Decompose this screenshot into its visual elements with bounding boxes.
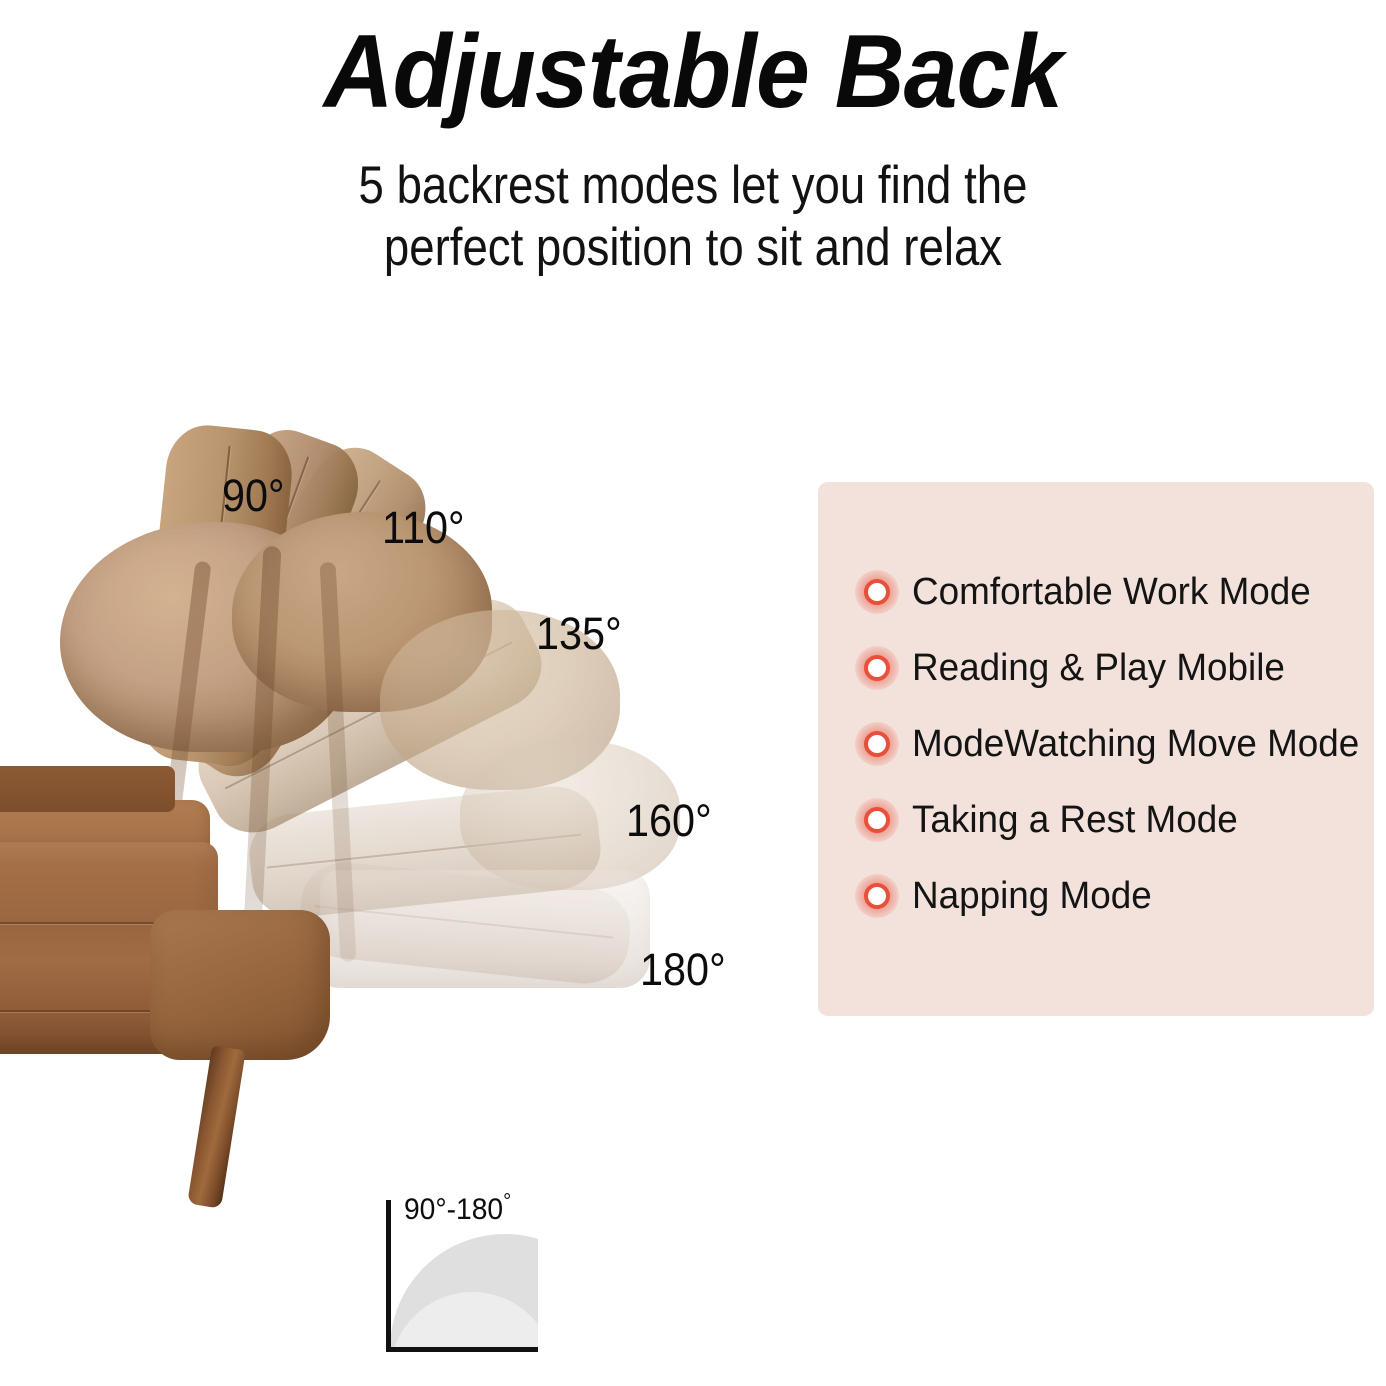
- feature-item-reading-play-mobile[interactable]: Reading & Play Mobile: [864, 630, 1374, 706]
- bullet-icon: [864, 579, 890, 605]
- subtitle-line-2: perfect position to sit and relax: [97, 217, 1289, 279]
- feature-label: ModeWatching Move Mode: [912, 723, 1359, 766]
- angle-range-degree: °: [503, 1188, 511, 1213]
- feature-item-watching-move-mode[interactable]: ModeWatching Move Mode: [864, 706, 1374, 782]
- backrest-base-wrap: [150, 910, 330, 1060]
- angle-label-180: 180°: [640, 944, 726, 996]
- bullet-icon: [864, 883, 890, 909]
- chair-seat-inner: [0, 766, 175, 812]
- feature-label: Reading & Play Mobile: [912, 647, 1285, 690]
- angle-label-90: 90°: [222, 470, 285, 522]
- angle-range-diagram: 90°-180°: [382, 1192, 552, 1372]
- page-subtitle: 5 backrest modes let you find the perfec…: [97, 155, 1289, 279]
- angle-diagram-mask-right: [538, 1192, 658, 1386]
- feature-item-taking-a-rest-mode[interactable]: Taking a Rest Mode: [864, 782, 1374, 858]
- infographic-page: Adjustable Back 5 backrest modes let you…: [0, 0, 1386, 1386]
- bullet-icon: [864, 807, 890, 833]
- feature-list: Comfortable Work Mode Reading & Play Mob…: [864, 554, 1374, 934]
- bullet-icon: [864, 655, 890, 681]
- angle-label-135: 135°: [536, 608, 622, 660]
- angle-range-label: 90°-180°: [404, 1188, 511, 1227]
- chair-wooden-leg: [187, 1045, 246, 1208]
- chair-product-image: [0, 470, 760, 1270]
- feature-panel: Comfortable Work Mode Reading & Play Mob…: [818, 482, 1374, 1016]
- angle-range-text: 90°-180: [404, 1193, 503, 1226]
- angle-axis-vertical: [386, 1200, 391, 1352]
- feature-label: Taking a Rest Mode: [912, 799, 1238, 842]
- angle-label-160: 160°: [626, 795, 712, 847]
- backrest-flat-slab-180: [320, 870, 650, 988]
- feature-item-napping-mode[interactable]: Napping Mode: [864, 858, 1374, 934]
- page-title: Adjustable Back: [49, 18, 1338, 127]
- angle-label-110: 110°: [382, 502, 465, 554]
- feature-item-comfortable-work-mode[interactable]: Comfortable Work Mode: [864, 554, 1374, 630]
- feature-label: Comfortable Work Mode: [912, 571, 1311, 614]
- angle-axis-horizontal: [386, 1347, 538, 1352]
- bullet-icon: [864, 731, 890, 757]
- subtitle-line-1: 5 backrest modes let you find the: [97, 155, 1289, 217]
- feature-label: Napping Mode: [912, 875, 1152, 918]
